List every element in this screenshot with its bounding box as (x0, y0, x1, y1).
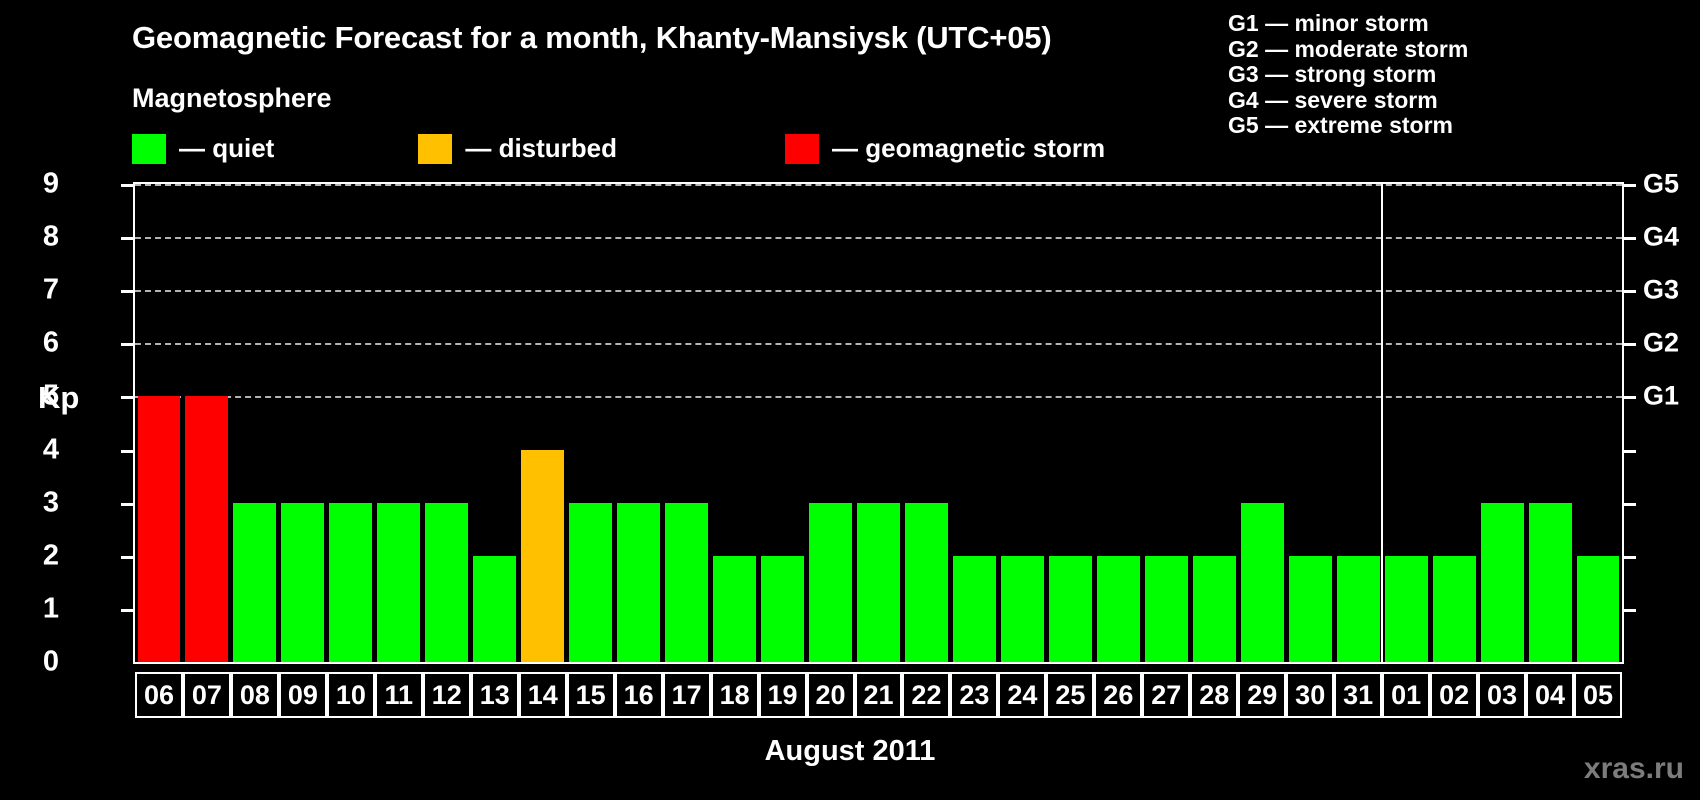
g-axis-label-G5: G5 (1643, 169, 1679, 200)
axis-ticks (135, 184, 1622, 662)
x-axis-date-row: 0607080910111213141516171819202122232425… (133, 672, 1624, 718)
date-label-03: 03 (1478, 672, 1526, 718)
date-label-28: 28 (1190, 672, 1238, 718)
y-axis-label-2: 2 (19, 539, 59, 572)
date-label-30: 30 (1286, 672, 1334, 718)
x-axis-title: August 2011 (0, 735, 1700, 768)
legend-label-disturbed: — disturbed (465, 133, 617, 164)
g-legend-row-3: G3 — strong storm (1228, 62, 1468, 88)
watermark: xras.ru (1584, 752, 1684, 786)
y-axis-label-9: 9 (19, 168, 59, 201)
date-label-20: 20 (807, 672, 855, 718)
date-label-11: 11 (375, 672, 423, 718)
date-label-21: 21 (855, 672, 903, 718)
date-label-19: 19 (759, 672, 807, 718)
y-axis-label-8: 8 (19, 221, 59, 254)
y-tick-3 (121, 503, 134, 506)
date-label-13: 13 (471, 672, 519, 718)
subtitle: Magnetosphere (132, 83, 332, 114)
date-label-27: 27 (1142, 672, 1190, 718)
g-tick-kp-1 (1623, 609, 1636, 612)
y-axis-label-4: 4 (19, 433, 59, 466)
g-axis-label-G4: G4 (1643, 222, 1679, 253)
y-tick-8 (121, 237, 134, 240)
date-label-06: 06 (135, 672, 183, 718)
legend-label-quiet: — quiet (179, 133, 274, 164)
g-tick-kp-4 (1623, 450, 1636, 453)
g-legend-row-4: G4 — severe storm (1228, 88, 1468, 114)
date-label-02: 02 (1430, 672, 1478, 718)
g-scale-legend: G1 — minor stormG2 — moderate stormG3 — … (1228, 11, 1468, 139)
legend-item-quiet: — quiet (132, 133, 274, 164)
y-tick-6 (121, 343, 134, 346)
date-label-17: 17 (663, 672, 711, 718)
legend-swatch-disturbed (418, 134, 452, 164)
g-axis-label-G2: G2 (1643, 328, 1679, 359)
legend-swatch-quiet (132, 134, 166, 164)
y-axis-label-7: 7 (19, 274, 59, 307)
date-label-16: 16 (615, 672, 663, 718)
date-label-31: 31 (1334, 672, 1382, 718)
date-label-26: 26 (1094, 672, 1142, 718)
legend-swatch-storm (785, 134, 819, 164)
g-legend-row-2: G2 — moderate storm (1228, 37, 1468, 63)
date-label-15: 15 (567, 672, 615, 718)
g-tick-kp-5 (1623, 396, 1636, 399)
g-axis-label-G1: G1 (1643, 381, 1679, 412)
date-label-25: 25 (1046, 672, 1094, 718)
date-label-14: 14 (519, 672, 567, 718)
color-legend: — quiet— disturbed— geomagnetic storm (132, 133, 1105, 164)
y-axis-label-5: 5 (19, 380, 59, 413)
g-tick-kp-2 (1623, 556, 1636, 559)
y-tick-7 (121, 290, 134, 293)
date-label-23: 23 (950, 672, 998, 718)
y-tick-1 (121, 609, 134, 612)
g-axis-label-G3: G3 (1643, 275, 1679, 306)
g-legend-row-5: G5 — extreme storm (1228, 113, 1468, 139)
y-tick-2 (121, 556, 134, 559)
date-label-12: 12 (423, 672, 471, 718)
y-axis-label-3: 3 (19, 486, 59, 519)
legend-label-storm: — geomagnetic storm (832, 133, 1105, 164)
y-axis-label-1: 1 (19, 592, 59, 625)
g-legend-row-1: G1 — minor storm (1228, 11, 1468, 37)
date-label-29: 29 (1238, 672, 1286, 718)
g-tick-kp-3 (1623, 503, 1636, 506)
y-tick-9 (121, 184, 134, 187)
date-label-07: 07 (183, 672, 231, 718)
date-label-01: 01 (1382, 672, 1430, 718)
g-tick-kp-9 (1623, 184, 1636, 187)
page-title: Geomagnetic Forecast for a month, Khanty… (132, 20, 1051, 56)
y-tick-5 (121, 396, 134, 399)
g-tick-kp-6 (1623, 343, 1636, 346)
date-label-09: 09 (279, 672, 327, 718)
date-label-08: 08 (231, 672, 279, 718)
y-axis-label-6: 6 (19, 327, 59, 360)
y-axis-label-0: 0 (19, 646, 59, 679)
date-label-10: 10 (327, 672, 375, 718)
date-label-24: 24 (998, 672, 1046, 718)
date-label-04: 04 (1526, 672, 1574, 718)
chart-canvas: Geomagnetic Forecast for a month, Khanty… (0, 0, 1700, 800)
date-label-22: 22 (902, 672, 950, 718)
date-label-05: 05 (1574, 672, 1622, 718)
legend-item-disturbed: — disturbed (418, 133, 617, 164)
y-tick-4 (121, 450, 134, 453)
g-tick-kp-8 (1623, 237, 1636, 240)
legend-item-storm: — geomagnetic storm (785, 133, 1105, 164)
g-tick-kp-7 (1623, 290, 1636, 293)
date-label-18: 18 (711, 672, 759, 718)
plot-area (133, 182, 1624, 664)
